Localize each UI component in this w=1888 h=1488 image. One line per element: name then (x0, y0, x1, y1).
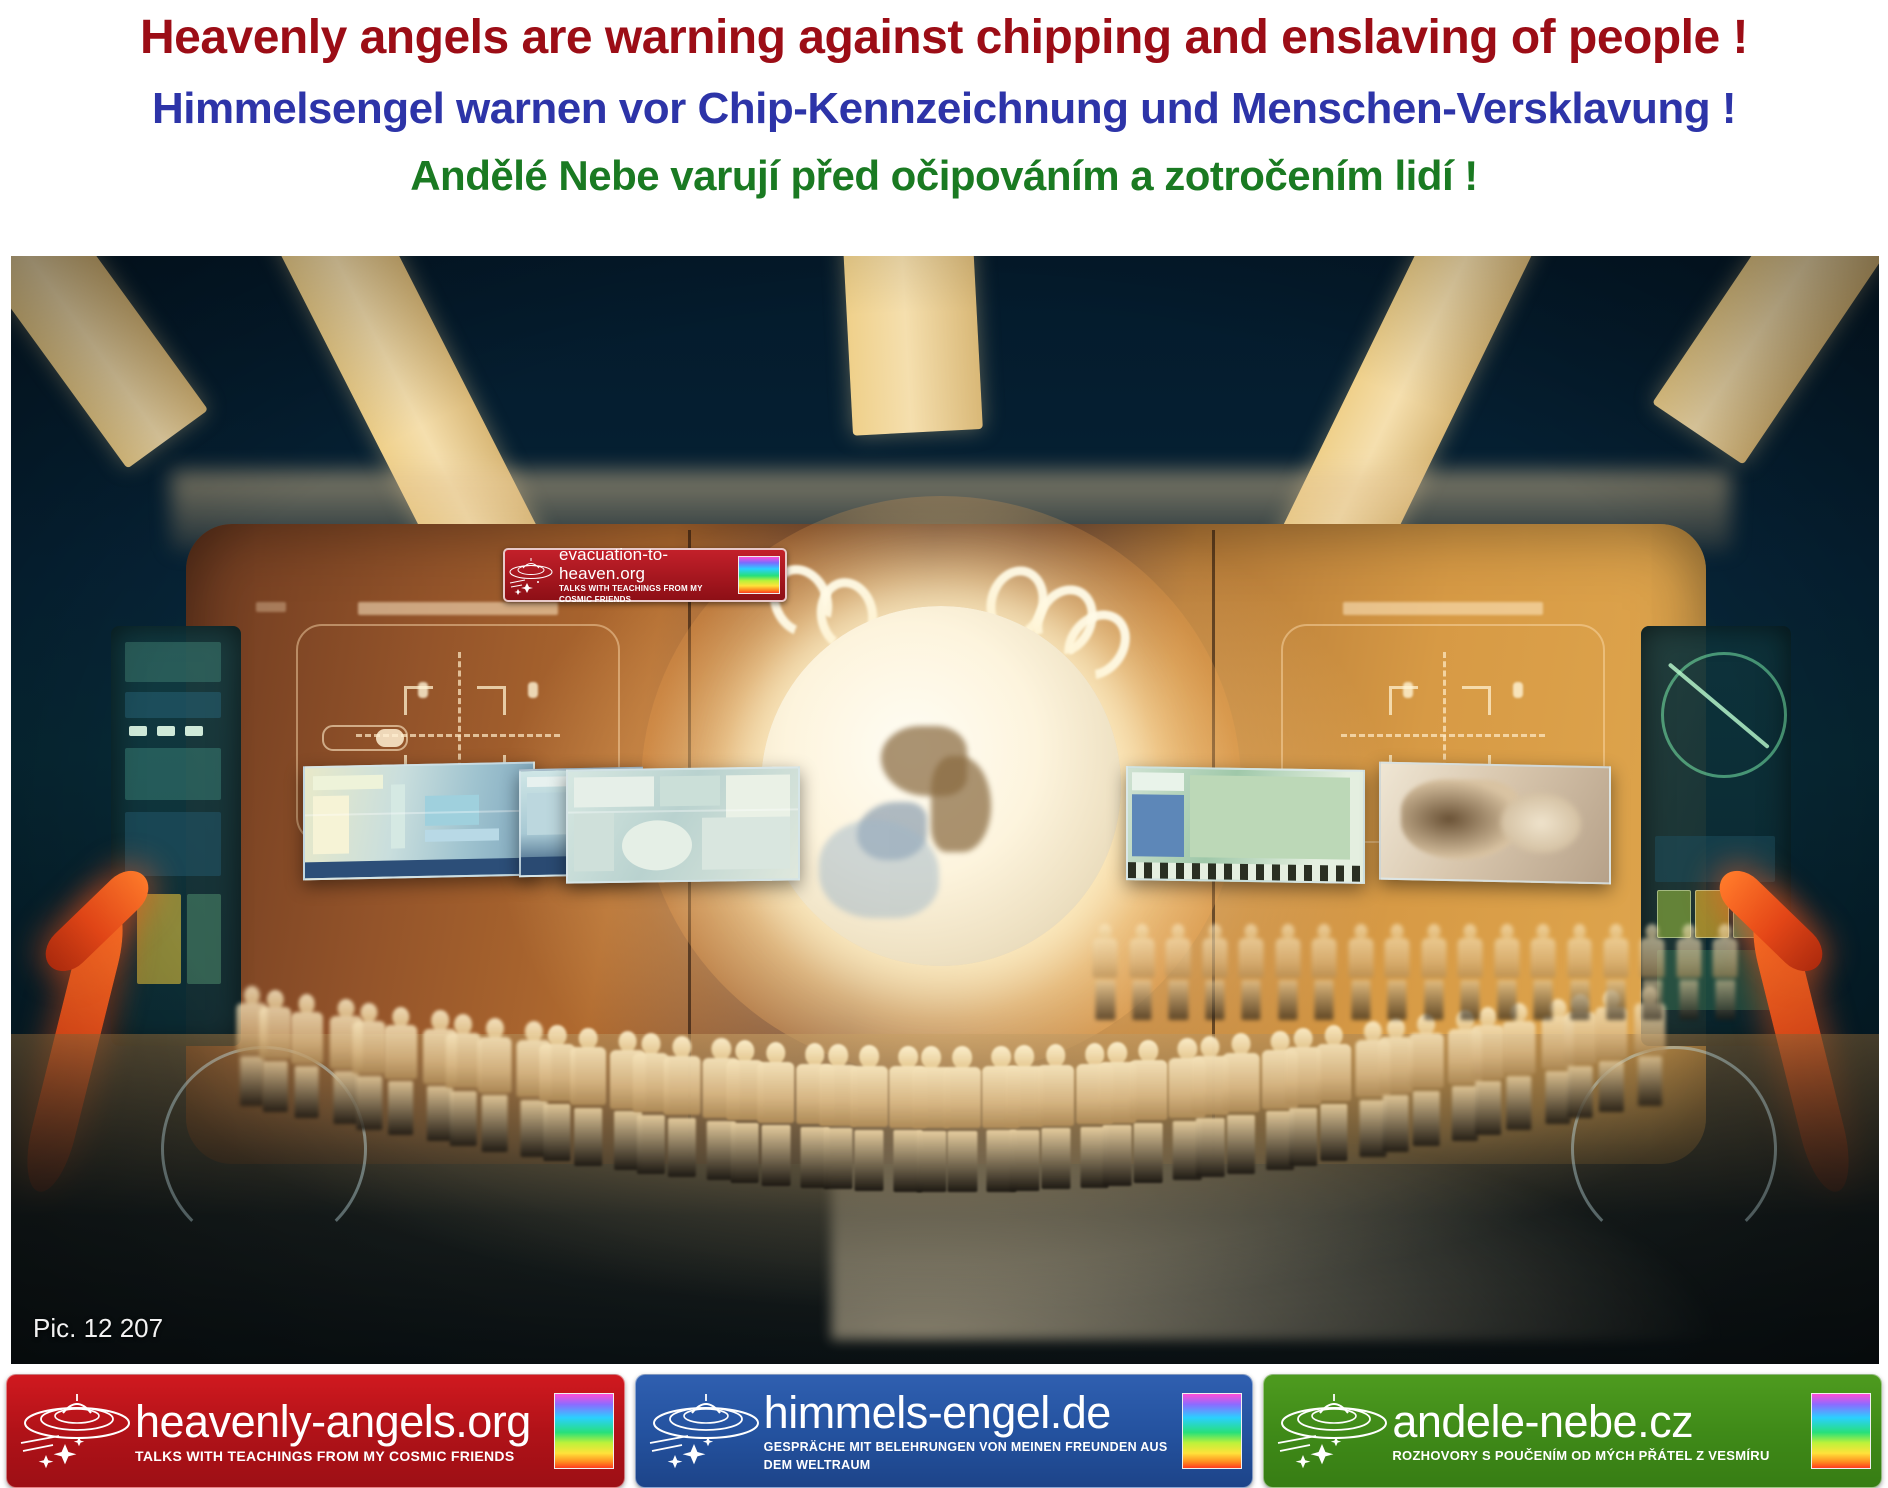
hud-bracket (1462, 686, 1491, 715)
figure-legs (855, 1130, 884, 1191)
figure-head (1386, 1018, 1404, 1039)
crowd-figure (1419, 924, 1448, 1020)
figure-legs (1382, 1095, 1409, 1151)
figure-head (392, 1007, 409, 1027)
figure-legs (668, 1118, 696, 1177)
figure-body (1713, 938, 1738, 978)
hud-label (1343, 602, 1543, 615)
figure-body (1093, 938, 1118, 978)
figure-head (766, 1042, 785, 1064)
crowd-figure (1456, 924, 1485, 1020)
figure-legs (948, 1131, 977, 1192)
crowd-figure (1220, 1033, 1262, 1173)
figure-head (579, 1028, 598, 1049)
crowd-figure (1164, 924, 1193, 1020)
figure-body (1130, 1060, 1167, 1120)
figure-legs (1424, 980, 1443, 1020)
figure-legs (1132, 980, 1151, 1020)
figure-legs (357, 1076, 382, 1129)
crowd-figure (1310, 924, 1339, 1020)
figure-body (1502, 1021, 1535, 1074)
hud-bracket (477, 686, 506, 715)
figure-legs (543, 1104, 570, 1161)
banner-site-url: himmels-engel.de (764, 1388, 1179, 1438)
crowd-of-figures (11, 886, 1879, 1216)
crowd-figure (381, 1007, 420, 1136)
hud-indicator (528, 682, 538, 698)
banner-site-url: heavenly-angels.org (135, 1397, 550, 1447)
figure-body (664, 1056, 701, 1115)
figure-head (1015, 1045, 1035, 1068)
ufo-saucer-icon (1272, 1389, 1392, 1473)
figure-legs (294, 1066, 319, 1118)
banner-heavenly-angels[interactable]: heavenly-angels.org TALKS WITH TEACHINGS… (6, 1374, 625, 1488)
figure-legs (1320, 1104, 1347, 1161)
figure-head (859, 1045, 879, 1068)
crowd-figure (1492, 924, 1521, 1020)
figure-legs (1413, 1091, 1439, 1147)
figure-body (850, 1066, 888, 1127)
banner-tagline: TALKS WITH TEACHINGS FROM MY COSMIC FRIE… (559, 583, 738, 605)
figure-body (1316, 1044, 1352, 1101)
figure-body (1202, 938, 1227, 978)
banner-tagline: ROZHOVORY S POUČENÍM OD MÝCH PŘÁTEL Z VE… (1392, 1447, 1807, 1465)
crowd-figure (1200, 924, 1229, 1020)
hud-indicator (1403, 682, 1413, 698)
figure-legs (1388, 980, 1407, 1020)
figure-head (486, 1018, 504, 1039)
scene-photo: evacuation-to-heaven.org TALKS WITH TEAC… (11, 256, 1879, 1364)
figure-body (1421, 938, 1446, 978)
crowd-figure (568, 1028, 609, 1166)
figure-body (1239, 938, 1264, 978)
banner-tagline: GESPRÄCHE MIT BELEHRUNGEN VON MEINEN FRE… (764, 1438, 1179, 1474)
figure-body (570, 1047, 606, 1105)
crowd-figure (1675, 924, 1704, 1020)
figure-head (1108, 1042, 1127, 1064)
figure-legs (1041, 1128, 1070, 1189)
figure-head (548, 1025, 566, 1046)
figure-head (454, 1014, 472, 1035)
figure-legs (450, 1091, 476, 1147)
figure-legs (1169, 980, 1188, 1020)
figure-head (641, 1033, 660, 1055)
banner-tagline: TALKS WITH TEACHINGS FROM MY COSMIC FRIE… (135, 1447, 550, 1465)
rainbow-swatch-icon (1182, 1393, 1242, 1469)
figure-head (1325, 1025, 1343, 1046)
hud-label (358, 602, 558, 615)
figure-legs (1315, 980, 1334, 1020)
figure-head (828, 1044, 848, 1067)
page-root: Heavenly angels are warning against chip… (0, 0, 1888, 1488)
rainbow-swatch-icon (554, 1393, 614, 1469)
figure-legs (1638, 1056, 1662, 1106)
hud-label (256, 602, 286, 612)
crowd-figure (1273, 924, 1302, 1020)
picture-caption: Pic. 12 207 (33, 1313, 163, 1344)
figure-body (1409, 1033, 1443, 1089)
figure-body (260, 1007, 292, 1058)
figure-head (361, 1003, 378, 1023)
ufo-saucer-icon (644, 1389, 764, 1473)
overhead-monitor (566, 766, 800, 883)
crowd-figure (1500, 1003, 1538, 1130)
crowd-figure (1602, 924, 1631, 1020)
figure-body (1037, 1065, 1075, 1126)
figure-head (1201, 1036, 1220, 1058)
figure-legs (1242, 980, 1261, 1020)
continent-shape (931, 756, 991, 852)
figure-body (384, 1025, 418, 1079)
crowd-figure (661, 1036, 703, 1178)
crowd-figure (1034, 1044, 1078, 1189)
figure-body (1603, 938, 1628, 978)
crowd-figure (1091, 924, 1120, 1020)
figure-legs (263, 1061, 287, 1112)
banner-himmels-engel[interactable]: himmels-engel.de GESPRÄCHE MIT BELEHRUNG… (635, 1374, 1254, 1488)
figure-legs (1679, 980, 1698, 1020)
banner-site-url: evacuation-to-heaven.org (559, 545, 738, 583)
figure-legs (1716, 980, 1735, 1020)
figure-legs (761, 1125, 790, 1186)
figure-head (921, 1046, 941, 1069)
evacuation-to-heaven-banner[interactable]: evacuation-to-heaven.org TALKS WITH TEAC… (503, 548, 787, 602)
crowd-figure (1127, 924, 1156, 1020)
crowd-figure (475, 1018, 515, 1152)
figure-body (1567, 938, 1592, 978)
figure-legs (481, 1095, 508, 1151)
footer-banner-bar: heavenly-angels.org TALKS WITH TEACHINGS… (0, 1374, 1888, 1488)
ceiling-beam (841, 256, 983, 436)
crowd-figure (1529, 924, 1558, 1020)
headline-czech: Andělé Nebe varují před očipováním a zot… (0, 152, 1888, 200)
crowd-figure (1383, 924, 1412, 1020)
figure-legs (1497, 980, 1516, 1020)
overhead-monitor (1126, 766, 1365, 884)
figure-body (1166, 938, 1191, 978)
figure-head (1232, 1033, 1251, 1055)
figure-legs (575, 1108, 603, 1166)
figure-legs (1205, 980, 1224, 1020)
figure-head (735, 1040, 754, 1062)
hud-gauge (322, 725, 408, 751)
figure-head (1046, 1044, 1066, 1067)
figure-body (1458, 938, 1483, 978)
figure-body (1676, 938, 1701, 978)
figure-body (1348, 938, 1373, 978)
figure-legs (1643, 980, 1662, 1020)
crowd-figure (1711, 924, 1740, 1020)
headline-german: Himmelsengel warnen vor Chip-Kennzeichnu… (0, 84, 1888, 134)
crowd-figure (1638, 924, 1667, 1020)
crowd-figure (1565, 924, 1594, 1020)
figure-head (1139, 1040, 1158, 1062)
figure-legs (388, 1081, 414, 1135)
figure-body (1494, 938, 1519, 978)
figure-legs (1227, 1115, 1255, 1174)
figure-legs (1461, 980, 1480, 1020)
figure-head (673, 1036, 692, 1058)
figure-legs (1351, 980, 1370, 1020)
figure-head (1294, 1028, 1313, 1049)
overhead-monitor (1379, 762, 1611, 885)
rainbow-swatch-icon (1811, 1393, 1871, 1469)
figure-legs (1096, 980, 1115, 1020)
crowd-figure (941, 1046, 985, 1192)
crowd-figure (754, 1042, 797, 1186)
figure-body (1223, 1053, 1260, 1112)
figure-legs (1506, 1076, 1531, 1129)
figure-body (1275, 938, 1300, 978)
figure-body (757, 1062, 794, 1123)
banner-andele-nebe[interactable]: andele-nebe.cz ROZHOVORY S POUČENÍM OD M… (1263, 1374, 1882, 1488)
figure-legs (1475, 1081, 1501, 1135)
figure-head (298, 994, 315, 1013)
crowd-figure (1346, 924, 1375, 1020)
figure-legs (1568, 1066, 1593, 1118)
radar-scope (1651, 636, 1801, 816)
figure-body (1129, 938, 1154, 978)
figure-body (1640, 938, 1665, 978)
ufo-saucer-icon (505, 555, 557, 595)
figure-body (1531, 938, 1556, 978)
ufo-saucer-icon (15, 1389, 135, 1473)
overhead-monitor (303, 762, 535, 881)
figure-body (943, 1067, 981, 1128)
crowd-figure (1313, 1025, 1354, 1162)
hud-indicator (1513, 682, 1523, 698)
crowd-figure (288, 994, 325, 1118)
figure-legs (1278, 980, 1297, 1020)
figure-legs (1599, 1061, 1623, 1112)
crowd-figure (1237, 924, 1266, 1020)
hud-indicator (418, 682, 428, 698)
figure-head (953, 1046, 973, 1069)
banner-site-url: andele-nebe.cz (1392, 1397, 1807, 1447)
figure-body (477, 1037, 512, 1093)
figure-body (291, 1012, 323, 1064)
rainbow-swatch-icon (738, 556, 780, 594)
figure-legs (1533, 980, 1552, 1020)
figure-legs (1570, 980, 1589, 1020)
headline-english: Heavenly angels are warning against chip… (0, 10, 1888, 65)
crowd-figure (847, 1045, 891, 1191)
headline-block: Heavenly angels are warning against chip… (0, 0, 1888, 252)
figure-legs (1134, 1123, 1163, 1183)
figure-head (267, 990, 283, 1009)
crowd-figure (1127, 1040, 1170, 1183)
figure-body (1312, 938, 1337, 978)
figure-legs (1606, 980, 1625, 1020)
figure-body (1385, 938, 1410, 978)
crowd-figure (1407, 1014, 1447, 1146)
